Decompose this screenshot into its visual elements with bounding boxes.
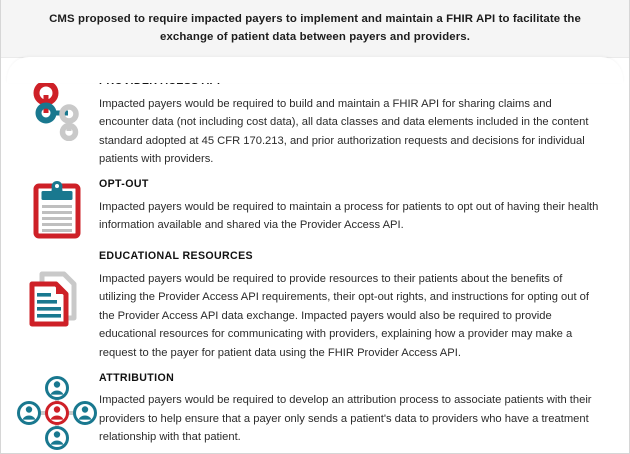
network-nodes-icon: [30, 81, 84, 141]
section-educational-resources: EDUCATIONAL RESOURCES Impacted payers wo…: [1, 251, 629, 363]
section-icon-cell: [15, 373, 99, 451]
section-title: PROVIDER ACESS API: [99, 76, 601, 88]
section-body: Impacted payers would be required to dev…: [99, 391, 601, 447]
section-provider-access-api: PROVIDER ACESS API Impacted payers would…: [1, 76, 629, 169]
section-text-cell: EDUCATIONAL RESOURCES Impacted payers wo…: [99, 251, 607, 363]
section-icon-cell: [15, 179, 99, 239]
page-title: CMS proposed to require impacted payers …: [35, 11, 595, 46]
section-body: Impacted payers would be required to mai…: [99, 198, 601, 235]
section-text-cell: PROVIDER ACESS API Impacted payers would…: [99, 76, 607, 169]
section-title: OPT-OUT: [99, 179, 601, 191]
section-body: Impacted payers would be required to bui…: [99, 95, 601, 169]
header-banner: CMS proposed to require impacted payers …: [1, 0, 629, 58]
section-attribution: ATTRIBUTION Impacted payers would be req…: [1, 373, 629, 451]
section-icon-cell: [15, 251, 99, 333]
section-body: Impacted payers would be required to pro…: [99, 270, 601, 363]
sections-container: PROVIDER ACESS API Impacted payers would…: [1, 58, 629, 451]
infographic-panel: CMS proposed to require impacted payers …: [0, 0, 630, 454]
section-opt-out: OPT-OUT Impacted payers would be require…: [1, 179, 629, 239]
section-title: EDUCATIONAL RESOURCES: [99, 251, 601, 263]
documents-icon: [28, 271, 86, 333]
section-title: ATTRIBUTION: [99, 373, 601, 385]
section-text-cell: OPT-OUT Impacted payers would be require…: [99, 179, 607, 235]
section-text-cell: ATTRIBUTION Impacted payers would be req…: [99, 373, 607, 447]
people-network-icon: [17, 375, 97, 451]
clipboard-icon: [31, 179, 83, 239]
section-icon-cell: [15, 76, 99, 141]
